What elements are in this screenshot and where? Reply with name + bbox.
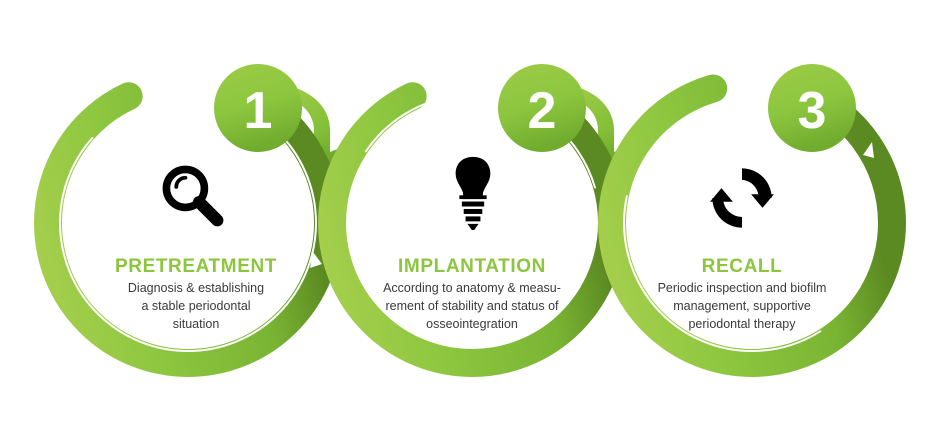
step-3-description-line-1: Periodic inspection and biofilm [658,281,827,295]
step-3-group[interactable]: 3 RECALL Periodic inspection and biofilm… [612,64,892,363]
step-1-badge-number: 1 [244,82,273,140]
dental-implant-icon [456,157,491,230]
infographic-canvas: 1 PRETREATMENT Diagnosis & establishing … [0,0,940,425]
step-2-description-line-3: osseointegration [426,317,518,331]
recycle-cycle-icon [710,168,774,227]
step-2-description-line-1: According to anatomy & measu- [383,281,561,295]
step-1-group[interactable]: 1 PRETREATMENT Diagnosis & establishing … [48,64,328,363]
step-1-description-line-1: Diagnosis & establishing [128,281,264,295]
step-1-description-line-2: a stable periodontal [141,299,250,313]
step-1-title: PRETREATMENT [115,256,277,277]
step-2-badge-number: 2 [528,82,557,140]
step-3-title: RECALL [702,256,783,277]
step-3-badge-number: 3 [798,82,827,140]
step-2-group[interactable]: 2 IMPLANTATION According to anatomy & me… [332,64,612,363]
step-1-description-line-3: situation [173,317,220,331]
step-2-title: IMPLANTATION [398,256,546,277]
step-2-description-line-2: rement of stability and status of [385,299,559,313]
step-3-description-line-3: periodontal therapy [688,317,796,331]
step-3-description-line-2: management, supportive [673,299,811,313]
magnifier-icon [166,169,217,220]
process-infographic: 1 PRETREATMENT Diagnosis & establishing … [0,0,940,425]
step-2-arc-arrowhead [473,90,489,102]
